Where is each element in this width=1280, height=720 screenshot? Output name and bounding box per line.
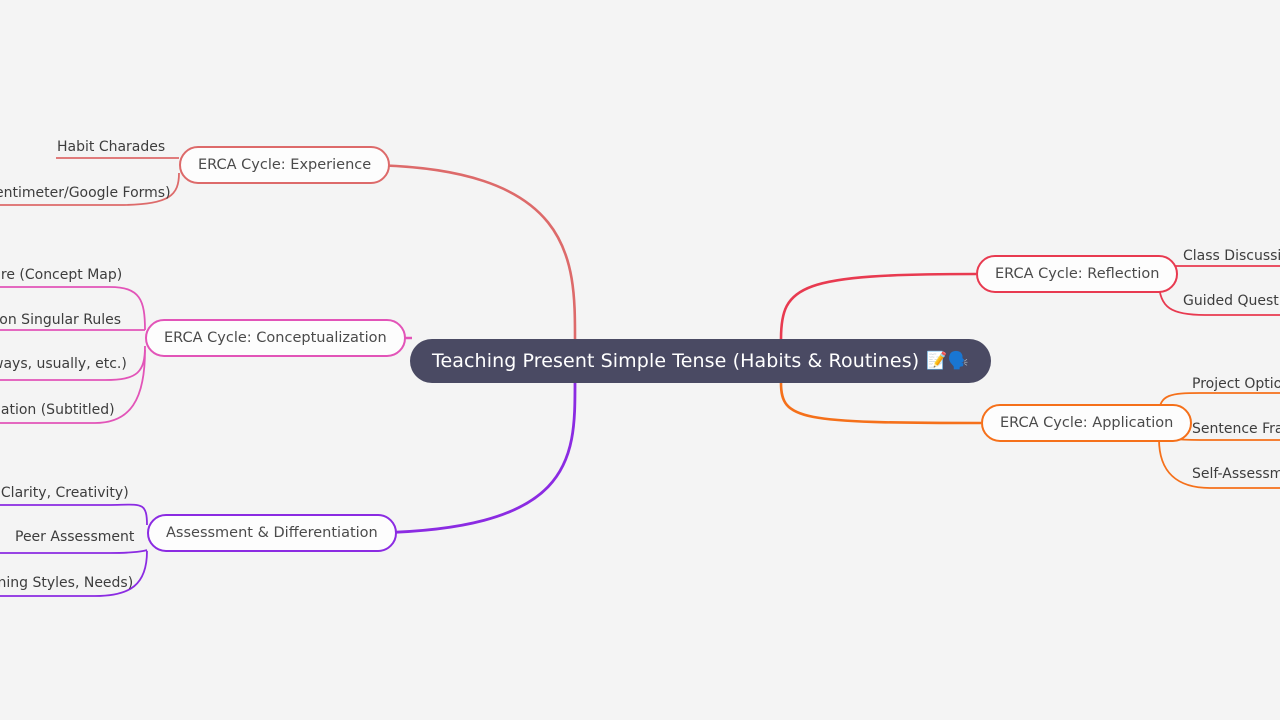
branch-label-experience: ERCA Cycle: Experience: [198, 157, 371, 173]
leaf-experience-habit-charades[interactable]: Habit Charades: [57, 140, 165, 154]
leaf-application-project-options[interactable]: Project Option: [1192, 377, 1280, 391]
branch-node-application[interactable]: ERCA Cycle: Application: [981, 404, 1192, 442]
memo-speaking-head-icon: 📝🗣️: [926, 353, 969, 370]
leaf-conceptualization-video-explanation[interactable]: nation (Subtitled): [0, 403, 115, 417]
link-root-reflection: [781, 274, 976, 339]
leaf-conceptualization-adverbs-frequency[interactable]: ways, usually, etc.): [0, 357, 127, 371]
leaf-reflection-class-discussion[interactable]: Class Discussion: [1183, 249, 1280, 263]
leaf-application-sentence-frames[interactable]: Sentence Fram: [1192, 422, 1280, 436]
branch-node-reflection[interactable]: ERCA Cycle: Reflection: [976, 255, 1178, 293]
link-assessment-rubric: [0, 505, 147, 525]
leaf-assessment-peer-assessment[interactable]: Peer Assessment: [15, 530, 134, 544]
link-root-experience: [359, 165, 575, 339]
leaf-conceptualization-third-person-singular[interactable]: son Singular Rules: [0, 313, 121, 327]
link-assessment-peer: [0, 550, 147, 553]
branch-label-assessment: Assessment & Differentiation: [166, 525, 378, 541]
branch-node-conceptualization[interactable]: ERCA Cycle: Conceptualization: [145, 319, 406, 357]
branch-label-application: ERCA Cycle: Application: [1000, 415, 1173, 431]
branch-label-reflection: ERCA Cycle: Reflection: [995, 266, 1159, 282]
branch-label-conceptualization: ERCA Cycle: Conceptualization: [164, 330, 387, 346]
leaf-assessment-differentiation[interactable]: rning Styles, Needs): [0, 576, 133, 590]
branch-node-assessment[interactable]: Assessment & Differentiation: [147, 514, 397, 552]
root-node-label: Teaching Present Simple Tense (Habits & …: [432, 350, 919, 372]
root-node[interactable]: Teaching Present Simple Tense (Habits & …: [410, 339, 991, 383]
link-root-assessment: [359, 383, 575, 533]
leaf-experience-quick-poll[interactable]: entimeter/Google Forms): [0, 186, 171, 200]
link-root-application: [781, 383, 981, 423]
leaf-application-self-assessment[interactable]: Self-Assessmen: [1192, 467, 1280, 481]
leaf-conceptualization-sentence-structure[interactable]: ure (Concept Map): [0, 268, 122, 282]
leaf-assessment-rubric[interactable]: , Clarity, Creativity): [0, 486, 129, 500]
branch-node-experience[interactable]: ERCA Cycle: Experience: [179, 146, 390, 184]
leaf-reflection-guided-questions[interactable]: Guided Question: [1183, 294, 1280, 308]
mindmap-canvas: Teaching Present Simple Tense (Habits & …: [0, 0, 1280, 720]
